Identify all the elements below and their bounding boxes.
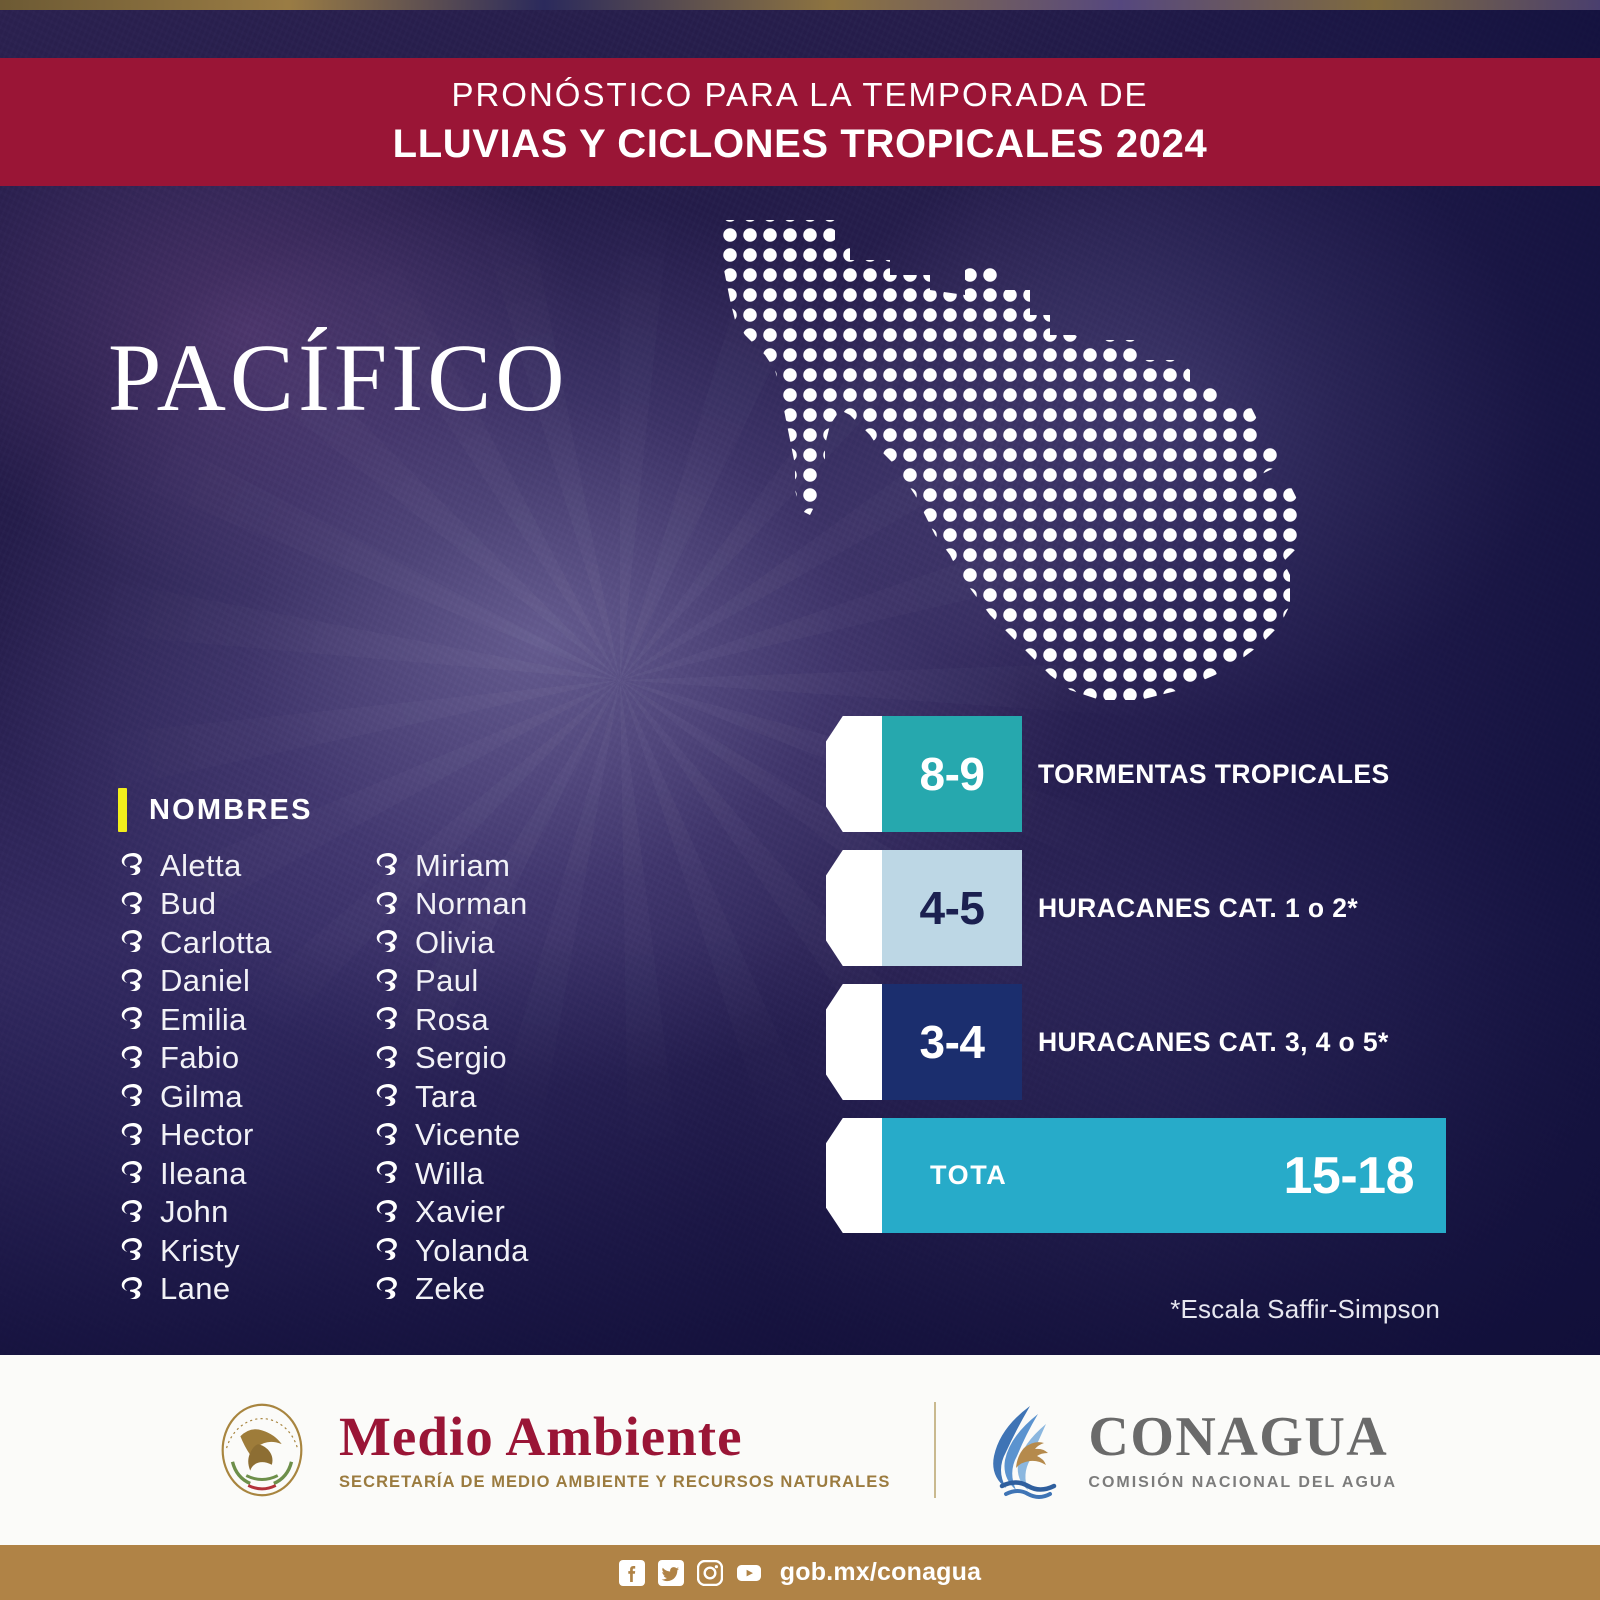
saffir-simpson-footnote: *Escala Saffir-Simpson xyxy=(1170,1294,1440,1325)
cyclone-name: Willa xyxy=(415,1158,484,1189)
stat-chevron xyxy=(826,850,886,966)
cyclone-name: Kristy xyxy=(160,1235,240,1266)
cyclone-name: Bud xyxy=(160,888,216,919)
cyclone-name: Paul xyxy=(415,965,479,996)
header-line-1: PRONÓSTICO PARA LA TEMPORADA DE xyxy=(451,76,1148,114)
cyclone-icon xyxy=(118,1043,148,1073)
conagua-water-eagle-icon xyxy=(980,1400,1072,1500)
stat-row-total: TOTA 15-18 xyxy=(826,1118,1446,1233)
list-item: Tara xyxy=(373,1077,628,1116)
total-value: 15-18 xyxy=(1284,1146,1415,1206)
list-item: Kristy xyxy=(118,1231,373,1270)
cyclone-icon xyxy=(373,889,403,919)
cyclone-icon xyxy=(118,966,148,996)
footer-divider xyxy=(934,1402,936,1498)
cyclone-name: Daniel xyxy=(160,965,250,996)
cyclone-name: Hector xyxy=(160,1119,254,1150)
facebook-icon[interactable] xyxy=(619,1560,645,1586)
youtube-icon[interactable] xyxy=(736,1560,762,1586)
list-item: Zeke xyxy=(373,1270,628,1309)
cyclone-icon xyxy=(373,966,403,996)
cyclone-icon xyxy=(373,1197,403,1227)
cyclone-icon xyxy=(118,889,148,919)
cyclone-icon xyxy=(373,1043,403,1073)
list-item: Olivia xyxy=(373,923,628,962)
names-heading: NOMBRES xyxy=(118,788,638,832)
cyclone-icon xyxy=(118,1197,148,1227)
stat-row-tropical-storms: 8-9 TORMENTAS TROPICALES xyxy=(826,716,1446,832)
total-bar: TOTA 15-18 xyxy=(882,1118,1446,1233)
list-item: Xavier xyxy=(373,1193,628,1232)
list-item: Gilma xyxy=(118,1077,373,1116)
top-edge-strip xyxy=(0,0,1600,10)
cyclone-icon xyxy=(373,1158,403,1188)
cyclone-icon xyxy=(118,1081,148,1111)
cyclone-icon xyxy=(373,1081,403,1111)
stat-value: 4-5 xyxy=(920,881,985,935)
stat-value: 3-4 xyxy=(920,1015,985,1069)
names-accent-bar xyxy=(118,788,127,832)
list-item: Vicente xyxy=(373,1116,628,1155)
stat-chevron xyxy=(826,984,886,1100)
list-item: Daniel xyxy=(118,962,373,1001)
names-section: NOMBRES Aletta Bud Carlotta Daniel xyxy=(118,788,638,1308)
cyclone-icon xyxy=(373,927,403,957)
instagram-icon[interactable] xyxy=(697,1560,723,1586)
basin-title: PACÍFICO xyxy=(108,330,569,426)
cyclone-icon xyxy=(118,1235,148,1265)
conagua-logo: CONAGUA COMISIÓN NACIONAL DEL AGUA xyxy=(980,1400,1397,1500)
list-item: Bud xyxy=(118,885,373,924)
cyclone-name: Gilma xyxy=(160,1081,243,1112)
bottom-social-bar: gob.mx/conagua xyxy=(0,1545,1600,1600)
cyclone-icon xyxy=(118,1120,148,1150)
mexico-seal-icon xyxy=(203,1391,321,1509)
cyclone-icon xyxy=(373,850,403,880)
cyclone-name: Sergio xyxy=(415,1042,507,1073)
stat-row-hurricanes-cat345: 3-4 HURACANES CAT. 3, 4 o 5* xyxy=(826,984,1446,1100)
cyclone-icon xyxy=(118,850,148,880)
cyclone-icon xyxy=(118,927,148,957)
list-item: Carlotta xyxy=(118,923,373,962)
cyclone-icon xyxy=(118,1274,148,1304)
list-item: John xyxy=(118,1193,373,1232)
list-item: Lane xyxy=(118,1270,373,1309)
list-item: Miriam xyxy=(373,846,628,885)
cyclone-name: Yolanda xyxy=(415,1235,529,1266)
cyclone-icon xyxy=(373,1235,403,1265)
semarnat-subtitle: SECRETARÍA DE MEDIO AMBIENTE Y RECURSOS … xyxy=(339,1473,890,1492)
list-item: Willa xyxy=(373,1154,628,1193)
list-item: Fabio xyxy=(118,1039,373,1078)
mexico-dot-map xyxy=(700,205,1300,710)
cyclone-name: Carlotta xyxy=(160,927,272,958)
cyclone-name: John xyxy=(160,1196,229,1227)
total-label: TOTA xyxy=(930,1160,1007,1191)
cyclone-name: Tara xyxy=(415,1081,477,1112)
names-heading-label: NOMBRES xyxy=(149,794,313,827)
cyclone-icon xyxy=(118,1004,148,1034)
stat-label: HURACANES CAT. 1 o 2* xyxy=(1038,850,1358,966)
stat-value: 8-9 xyxy=(920,747,985,801)
forecast-stats: 8-9 TORMENTAS TROPICALES 4-5 HURACANES C… xyxy=(826,716,1446,1233)
cyclone-icon xyxy=(373,1120,403,1150)
stat-value-pill: 8-9 xyxy=(882,716,1022,832)
cyclone-name: Aletta xyxy=(160,850,242,881)
cyclone-name: Olivia xyxy=(415,927,495,958)
cyclone-icon xyxy=(118,1158,148,1188)
stat-row-hurricanes-cat12: 4-5 HURACANES CAT. 1 o 2* xyxy=(826,850,1446,966)
cyclone-name: Fabio xyxy=(160,1042,240,1073)
conagua-subtitle: COMISIÓN NACIONAL DEL AGUA xyxy=(1088,1474,1397,1492)
cyclone-name: Xavier xyxy=(415,1196,505,1227)
stat-value-pill: 3-4 xyxy=(882,984,1022,1100)
cyclone-name: Lane xyxy=(160,1273,231,1304)
conagua-title: CONAGUA xyxy=(1088,1409,1397,1465)
list-item: Yolanda xyxy=(373,1231,628,1270)
stat-chevron xyxy=(826,1118,886,1233)
list-item: Emilia xyxy=(118,1000,373,1039)
social-icons xyxy=(619,1560,762,1586)
gob-url[interactable]: gob.mx/conagua xyxy=(780,1558,981,1587)
header-band: PRONÓSTICO PARA LA TEMPORADA DE LLUVIAS … xyxy=(0,58,1600,186)
footer-logos: Medio Ambiente SECRETARÍA DE MEDIO AMBIE… xyxy=(0,1355,1600,1545)
list-item: Paul xyxy=(373,962,628,1001)
stat-label: HURACANES CAT. 3, 4 o 5* xyxy=(1038,984,1389,1100)
stat-label: TORMENTAS TROPICALES xyxy=(1038,716,1390,832)
twitter-icon[interactable] xyxy=(658,1560,684,1586)
names-column-right: Miriam Norman Olivia Paul Rosa xyxy=(373,846,628,1308)
cyclone-name: Zeke xyxy=(415,1273,486,1304)
cyclone-name: Emilia xyxy=(160,1004,247,1035)
cyclone-name: Vicente xyxy=(415,1119,521,1150)
cyclone-name: Ileana xyxy=(160,1158,247,1189)
list-item: Ileana xyxy=(118,1154,373,1193)
list-item: Rosa xyxy=(373,1000,628,1039)
stat-chevron xyxy=(826,716,886,832)
stat-value-pill: 4-5 xyxy=(882,850,1022,966)
header-line-2: LLUVIAS Y CICLONES TROPICALES 2024 xyxy=(393,120,1208,168)
names-column-left: Aletta Bud Carlotta Daniel Emilia xyxy=(118,846,373,1308)
list-item: Hector xyxy=(118,1116,373,1155)
semarnat-logo: Medio Ambiente SECRETARÍA DE MEDIO AMBIE… xyxy=(203,1391,890,1509)
cyclone-name: Rosa xyxy=(415,1004,489,1035)
list-item: Norman xyxy=(373,885,628,924)
cyclone-name: Norman xyxy=(415,888,528,919)
infographic-poster: PRONÓSTICO PARA LA TEMPORADA DE LLUVIAS … xyxy=(0,0,1600,1600)
list-item: Sergio xyxy=(373,1039,628,1078)
cyclone-icon xyxy=(373,1004,403,1034)
list-item: Aletta xyxy=(118,846,373,885)
cyclone-icon xyxy=(373,1274,403,1304)
cyclone-name: Miriam xyxy=(415,850,510,881)
semarnat-title: Medio Ambiente xyxy=(339,1409,890,1464)
